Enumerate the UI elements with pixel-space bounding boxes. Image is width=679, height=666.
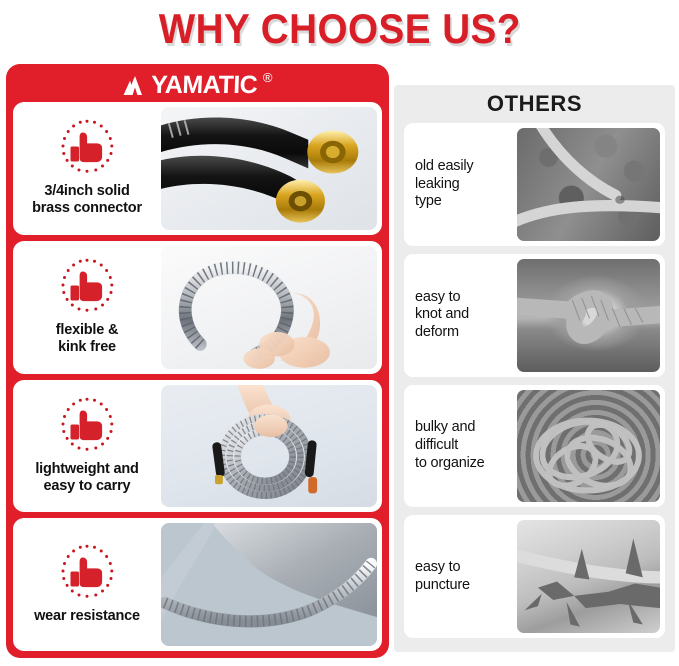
others-caption-line-3: type <box>415 193 517 211</box>
others-caption: easy to knot and deform <box>409 289 517 342</box>
feature-image <box>161 246 377 369</box>
feature-caption-line-2: brass connector <box>32 200 142 217</box>
hose-against-thorns-illustration <box>517 520 660 633</box>
yamatic-arrow-mark-icon <box>123 76 147 95</box>
others-caption-line-3: deform <box>415 324 517 342</box>
thumbs-up-icon <box>56 542 118 604</box>
others-caption-line-1: easy to <box>415 559 517 577</box>
brand-comparison-panel: YAMATIC ® <box>6 64 389 658</box>
feature-caption: 3/4inch solid brass connector <box>32 183 142 217</box>
feature-caption: wear resistance <box>34 608 140 625</box>
hand-carrying-coiled-hose-illustration <box>161 385 377 508</box>
feature-caption-line-1: lightweight and <box>35 461 138 478</box>
others-card: old easily leaking type <box>404 123 665 246</box>
feature-caption-line-2: kink free <box>56 339 118 356</box>
others-caption-line-1: bulky and <box>415 419 517 437</box>
black-hose-brass-connector-illustration <box>161 107 377 230</box>
others-card: easy to knot and deform <box>404 254 665 377</box>
feature-caption: lightweight and easy to carry <box>35 461 138 495</box>
feature-image <box>161 523 377 646</box>
feature-caption-line-1: 3/4inch solid <box>32 183 142 200</box>
leaking-hose-illustration <box>517 128 660 241</box>
feature-card-list: 3/4inch solid brass connector <box>13 102 382 651</box>
feature-card: 3/4inch solid brass connector <box>13 102 382 235</box>
others-caption: easy to puncture <box>409 559 517 594</box>
others-card: easy to puncture <box>404 515 665 638</box>
others-caption-line-2: leaking <box>415 176 517 194</box>
knotted-hose-illustration <box>517 259 660 372</box>
others-caption-line-2: puncture <box>415 577 517 595</box>
feature-card-text-block: wear resistance <box>13 518 161 651</box>
others-caption: bulky and difficult to organize <box>409 419 517 472</box>
thumbs-up-icon <box>56 117 118 179</box>
others-card: bulky and difficult to organize <box>404 385 665 508</box>
page-title: WHY CHOOSE US? <box>158 8 520 50</box>
feature-card-text-block: 3/4inch solid brass connector <box>13 102 161 235</box>
feature-caption-line-1: flexible & <box>56 322 118 339</box>
registered-trademark-icon: ® <box>263 71 273 84</box>
others-image <box>517 128 660 241</box>
feature-card: wear resistance <box>13 518 382 651</box>
others-caption: old easily leaking type <box>409 158 517 211</box>
feature-card-text-block: lightweight and easy to carry <box>13 380 161 513</box>
feature-card: lightweight and easy to carry <box>13 380 382 513</box>
feature-caption: flexible & kink free <box>56 322 118 356</box>
others-image <box>517 520 660 633</box>
others-comparison-panel: OTHERS old easily leaking type <box>394 85 675 652</box>
others-title: OTHERS <box>404 91 665 123</box>
feature-caption-line-1: wear resistance <box>34 608 140 625</box>
feature-card: flexible & kink free <box>13 241 382 374</box>
others-caption-line-1: easy to <box>415 289 517 307</box>
feature-card-text-block: flexible & kink free <box>13 241 161 374</box>
others-image <box>517 390 660 503</box>
hose-on-stone-illustration <box>161 523 377 646</box>
others-image <box>517 259 660 372</box>
others-card-list: old easily leaking type easy to <box>404 123 665 638</box>
tangled-hose-pile-illustration <box>517 390 660 503</box>
others-caption-line-1: old easily <box>415 158 517 176</box>
hand-bending-metal-hose-illustration <box>161 246 377 369</box>
feature-image <box>161 107 377 230</box>
thumbs-up-icon <box>56 256 118 318</box>
others-caption-line-2: difficult <box>415 437 517 455</box>
others-caption-line-3: to organize <box>415 455 517 473</box>
thumbs-up-icon <box>56 395 118 457</box>
brand-logo: YAMATIC ® <box>13 70 382 102</box>
others-caption-line-2: knot and <box>415 306 517 324</box>
page-title-bar: WHY CHOOSE US? <box>0 0 679 58</box>
feature-caption-line-2: easy to carry <box>35 478 138 495</box>
feature-image <box>161 385 377 508</box>
brand-wordmark: YAMATIC <box>150 73 257 98</box>
